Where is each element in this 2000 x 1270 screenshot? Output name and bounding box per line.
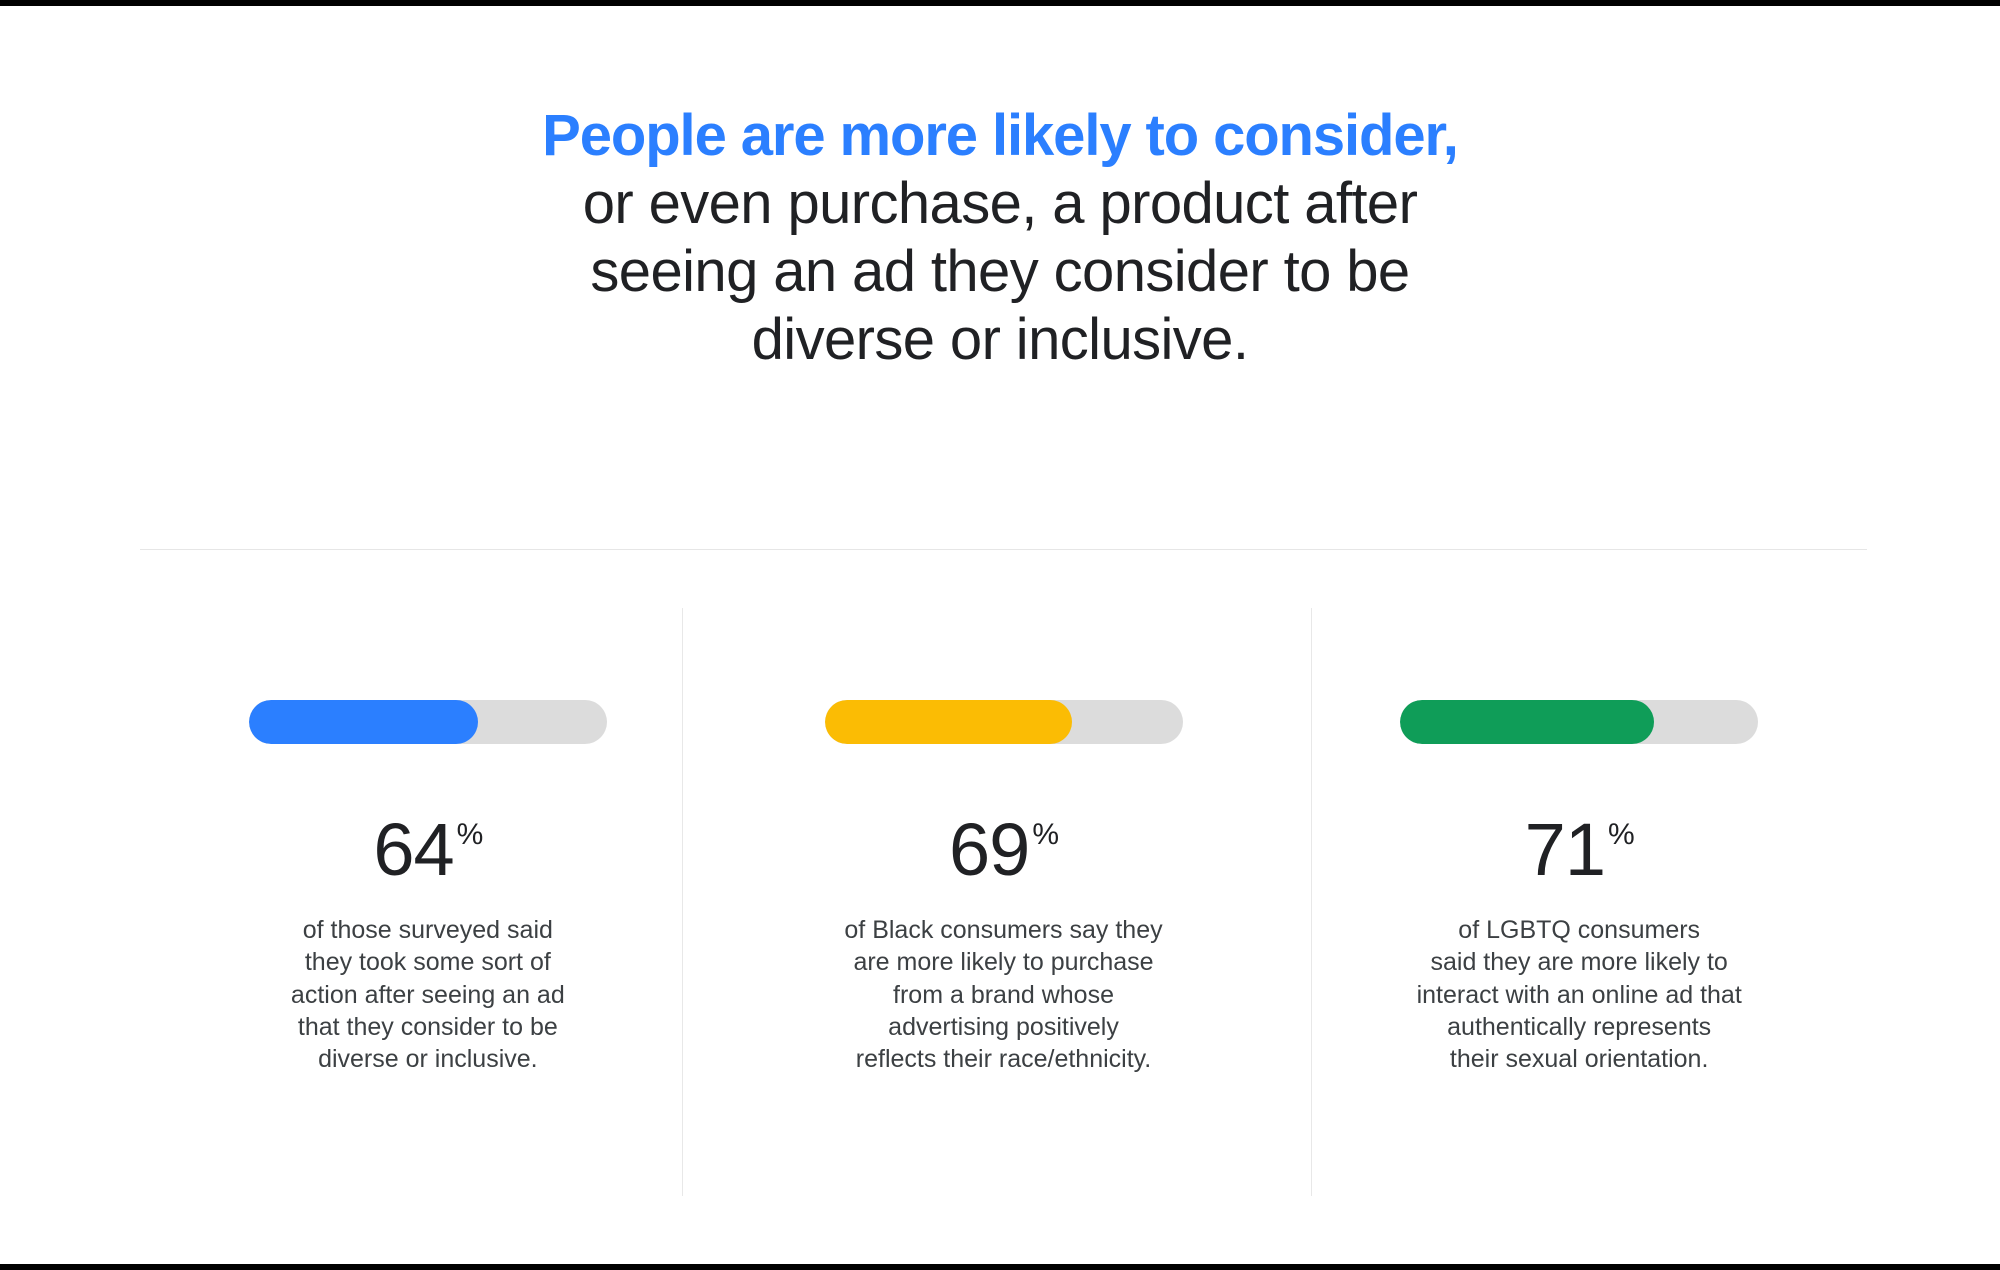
progress-fill-3 (1400, 700, 1654, 744)
stat-column-2: 69 % of Black consumers say they are mor… (716, 606, 1292, 1206)
stat-column-1: 64 % of those surveyed said they took so… (140, 606, 716, 1206)
stat-number-2: 69 (949, 816, 1029, 884)
horizontal-divider (140, 549, 1867, 550)
progress-track-3 (1400, 700, 1758, 744)
infographic-slide: People are more likely to consider, or e… (0, 0, 2000, 1270)
progress-track-2 (825, 700, 1183, 744)
stat-number-1: 64 (373, 816, 453, 884)
progress-fill-2 (825, 700, 1072, 744)
percent-symbol-2: % (1032, 820, 1058, 850)
page-title: People are more likely to consider, or e… (230, 102, 1770, 373)
percent-symbol-3: % (1608, 820, 1634, 850)
progress-fill-1 (249, 700, 478, 744)
stat-caption-3: of LGBTQ consumers said they are more li… (1417, 914, 1742, 1075)
stat-caption-1: of those surveyed said they took some so… (291, 914, 565, 1075)
stats-row: 64 % of those surveyed said they took so… (140, 606, 1867, 1206)
stat-value-3: 71 % (1525, 816, 1634, 884)
stat-value-1: 64 % (373, 816, 482, 884)
stat-column-3: 71 % of LGBTQ consumers said they are mo… (1291, 606, 1867, 1206)
stat-value-2: 69 % (949, 816, 1058, 884)
percent-symbol-1: % (457, 820, 483, 850)
headline-line-3: diverse or inclusive. (230, 306, 1770, 374)
headline-line-1: or even purchase, a product after (230, 170, 1770, 238)
headline-line-2: seeing an ad they consider to be (230, 238, 1770, 306)
progress-track-1 (249, 700, 607, 744)
stat-number-3: 71 (1525, 816, 1605, 884)
headline-accent-line: People are more likely to consider, (230, 102, 1770, 170)
stat-caption-2: of Black consumers say they are more lik… (844, 914, 1162, 1075)
